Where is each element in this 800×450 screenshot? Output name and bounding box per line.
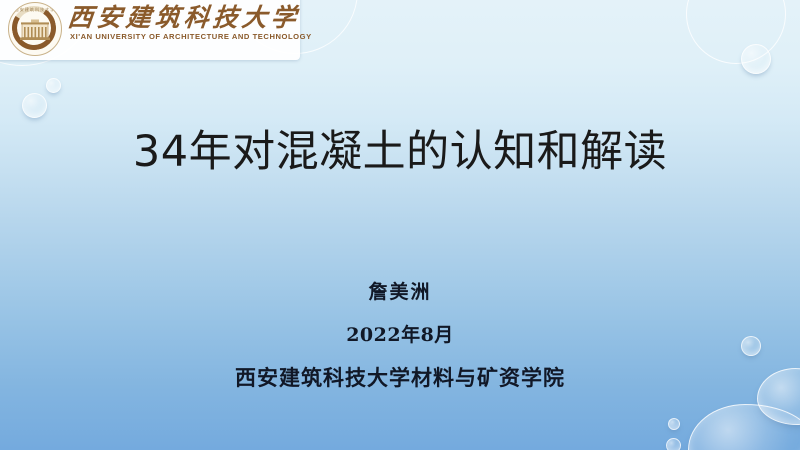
bubble-left-small-decoration: [46, 78, 61, 93]
seal-top-text: 西安建筑科技大学: [9, 7, 61, 13]
presentation-date: 2022年8月: [0, 320, 800, 347]
seal-building-icon: [20, 19, 50, 40]
presenter-name: 詹美洲: [0, 277, 800, 304]
blob-right-lower-decoration: [688, 404, 800, 450]
university-logo-panel: 西安建筑科技大学 西安建筑科技大学 XI'AN UNIVERSITY OF AR…: [0, 0, 300, 60]
bubble-bottom-tiny-decoration: [668, 418, 680, 430]
university-name-en: XI'AN UNIVERSITY OF ARCHITECTURE AND TEC…: [70, 32, 312, 41]
university-name-cn: 西安建筑科技大学: [66, 0, 302, 34]
university-seal-icon: 西安建筑科技大学: [8, 2, 62, 56]
presenter-affiliation: 西安建筑科技大学材料与矿资学院: [0, 362, 800, 392]
slide-title: 34年对混凝土的认知和解读: [0, 128, 800, 177]
bubble-bottom-small-decoration: [666, 438, 681, 450]
swoosh-top-right-decoration: [686, 0, 786, 64]
presentation-slide: 西安建筑科技大学 西安建筑科技大学 XI'AN UNIVERSITY OF AR…: [0, 0, 800, 450]
bubble-top-right-decoration: [741, 44, 771, 74]
bubble-left-medium-decoration: [22, 93, 47, 118]
